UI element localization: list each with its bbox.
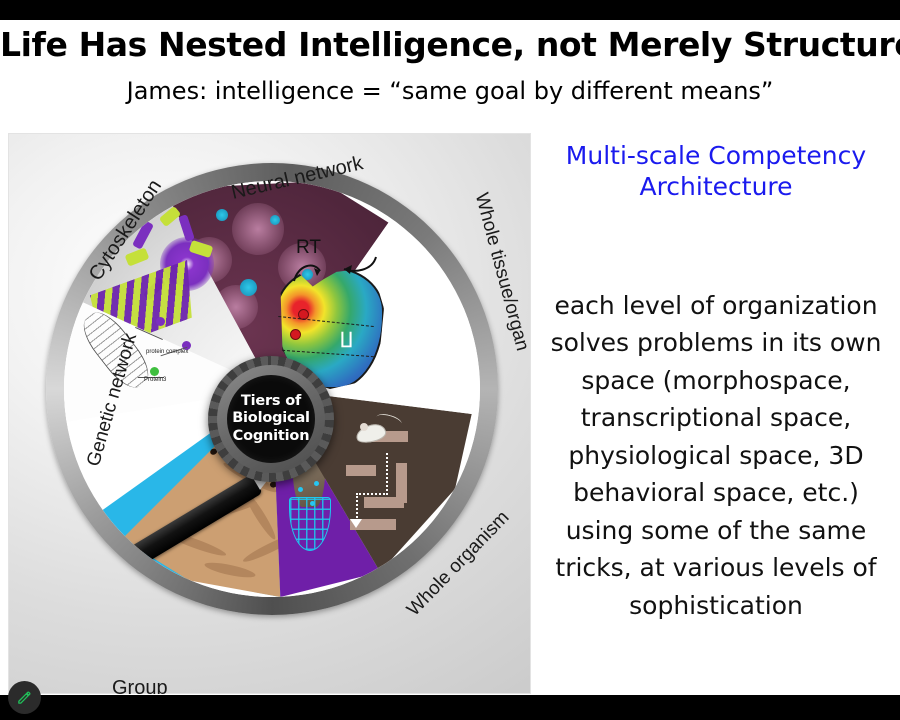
figure-panel: protein complex Protein3 (8, 133, 531, 694)
neuron-node (216, 209, 228, 221)
label-protein3: Protein3 (144, 377, 166, 383)
slide-canvas: Life Has Nested Intelligence, not Merely… (0, 20, 900, 695)
path-arrow (356, 493, 388, 495)
maze-wall (364, 497, 404, 508)
mouse-ear (360, 423, 368, 431)
label-protein-complex: protein complex (146, 349, 188, 355)
path-arrow (386, 453, 388, 495)
ring-label-group: Group (112, 677, 168, 694)
section-heading: Multi-scale Competency Architecture (540, 140, 892, 203)
omega-symbol: ∐ (340, 329, 353, 349)
text-column: Multi-scale Competency Architecture each… (540, 140, 892, 624)
section-body: each level of organization solves proble… (540, 287, 892, 625)
path-arrow (356, 493, 358, 521)
eye-spot (290, 329, 301, 340)
tiers-wheel: protein complex Protein3 (22, 149, 520, 689)
hub-ring: Tiers of Biological Cognition (217, 365, 325, 473)
hub-core: Tiers of Biological Cognition (227, 375, 315, 463)
hub-line-1: Tiers of (241, 393, 301, 410)
rt-arrows (286, 251, 386, 287)
bioelectric-signal (298, 487, 303, 492)
neuron-node (240, 279, 257, 296)
hub-line-3: Cognition (233, 428, 310, 445)
maze-wall (346, 465, 376, 476)
slide-root: Life Has Nested Intelligence, not Merely… (0, 0, 900, 720)
bioelectric-signal (314, 481, 319, 486)
annotate-button[interactable] (8, 681, 41, 714)
gene-node (156, 317, 165, 326)
page-title: Life Has Nested Intelligence, not Merely… (0, 25, 900, 64)
hub-line-2: Biological (232, 410, 310, 427)
gene-node (150, 367, 159, 376)
neuron-node (270, 215, 280, 225)
page-subtitle: James: intelligence = “same goal by diff… (0, 77, 900, 105)
neuron-soma (232, 203, 284, 255)
pencil-icon (16, 689, 33, 706)
wheel-hub: Tiers of Biological Cognition (208, 356, 334, 482)
path-arrow-head (350, 519, 362, 528)
